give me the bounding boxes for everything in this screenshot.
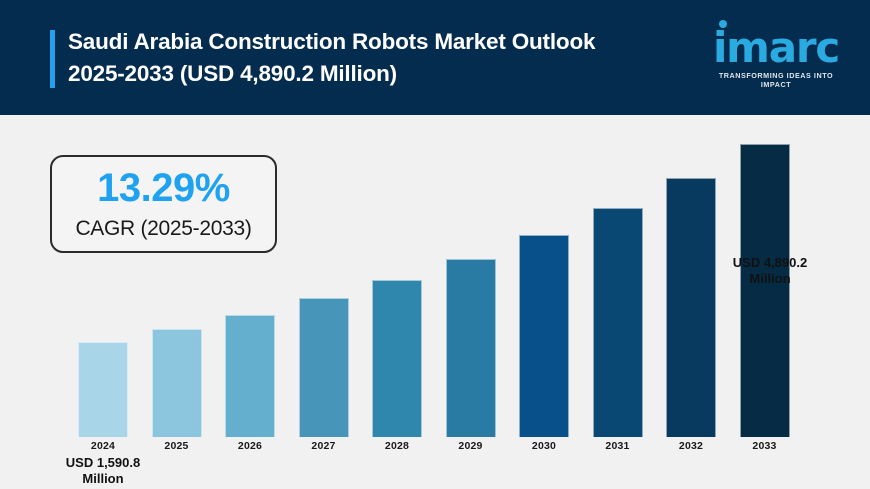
- x-axis-label-2026: 2026: [225, 440, 275, 452]
- bar-2032[interactable]: [666, 178, 716, 437]
- logo-dot-icon: [719, 20, 727, 28]
- x-axis-label-2031: 2031: [593, 440, 643, 452]
- value-callout-first: USD 1,590.8 Million: [42, 455, 164, 487]
- x-axis-label-2027: 2027: [299, 440, 349, 452]
- value-callout-last-value: USD 4,890.2: [700, 255, 840, 271]
- bar-group-2025[interactable]: 2025: [152, 115, 202, 437]
- x-axis-label-2025: 2025: [152, 440, 202, 452]
- x-axis-label-2030: 2030: [519, 440, 569, 452]
- bar-2024[interactable]: [78, 342, 128, 437]
- bar-group-2027[interactable]: 2027: [299, 115, 349, 437]
- value-callout-last: USD 4,890.2 Million: [700, 255, 840, 287]
- value-callout-last-unit: Million: [700, 271, 840, 287]
- x-axis-label-2032: 2032: [666, 440, 716, 452]
- x-axis-label-2033: 2033: [740, 440, 790, 452]
- value-callout-first-value: USD 1,590.8: [42, 455, 164, 471]
- imarc-logo: imarc TRANSFORMING IDEAS INTO IMPACT: [710, 28, 842, 86]
- x-axis-label-2024: 2024: [78, 440, 128, 452]
- bar-2028[interactable]: [372, 280, 422, 437]
- bar-group-2031[interactable]: 2031: [593, 115, 643, 437]
- value-callout-first-unit: Million: [42, 471, 164, 487]
- bar-2027[interactable]: [299, 298, 349, 437]
- page-header: Saudi Arabia Construction Robots Market …: [0, 0, 870, 115]
- bar-2025[interactable]: [152, 329, 202, 437]
- page-title-line-1: Saudi Arabia Construction Robots Market …: [68, 26, 688, 58]
- bar-chart: 2024202520262027202820292030203120322033…: [0, 115, 870, 489]
- logo-wordmark: imarc: [710, 28, 842, 68]
- bar-group-2026[interactable]: 2026: [225, 115, 275, 437]
- bar-2026[interactable]: [225, 315, 275, 438]
- bar-group-2024[interactable]: 2024: [78, 115, 128, 437]
- logo-tagline: TRANSFORMING IDEAS INTO IMPACT: [710, 71, 842, 89]
- bar-2029[interactable]: [446, 259, 496, 437]
- page-title-line-2: 2025-2033 (USD 4,890.2 Million): [68, 58, 688, 90]
- header-accent-bar: [50, 30, 55, 88]
- bar-group-2028[interactable]: 2028: [372, 115, 422, 437]
- bar-group-2030[interactable]: 2030: [519, 115, 569, 437]
- x-axis-label-2029: 2029: [446, 440, 496, 452]
- bar-2030[interactable]: [519, 235, 569, 437]
- x-axis-label-2028: 2028: [372, 440, 422, 452]
- page-title: Saudi Arabia Construction Robots Market …: [68, 26, 688, 90]
- bar-group-2029[interactable]: 2029: [446, 115, 496, 437]
- bar-2031[interactable]: [593, 208, 643, 437]
- bar-2033[interactable]: [740, 144, 790, 437]
